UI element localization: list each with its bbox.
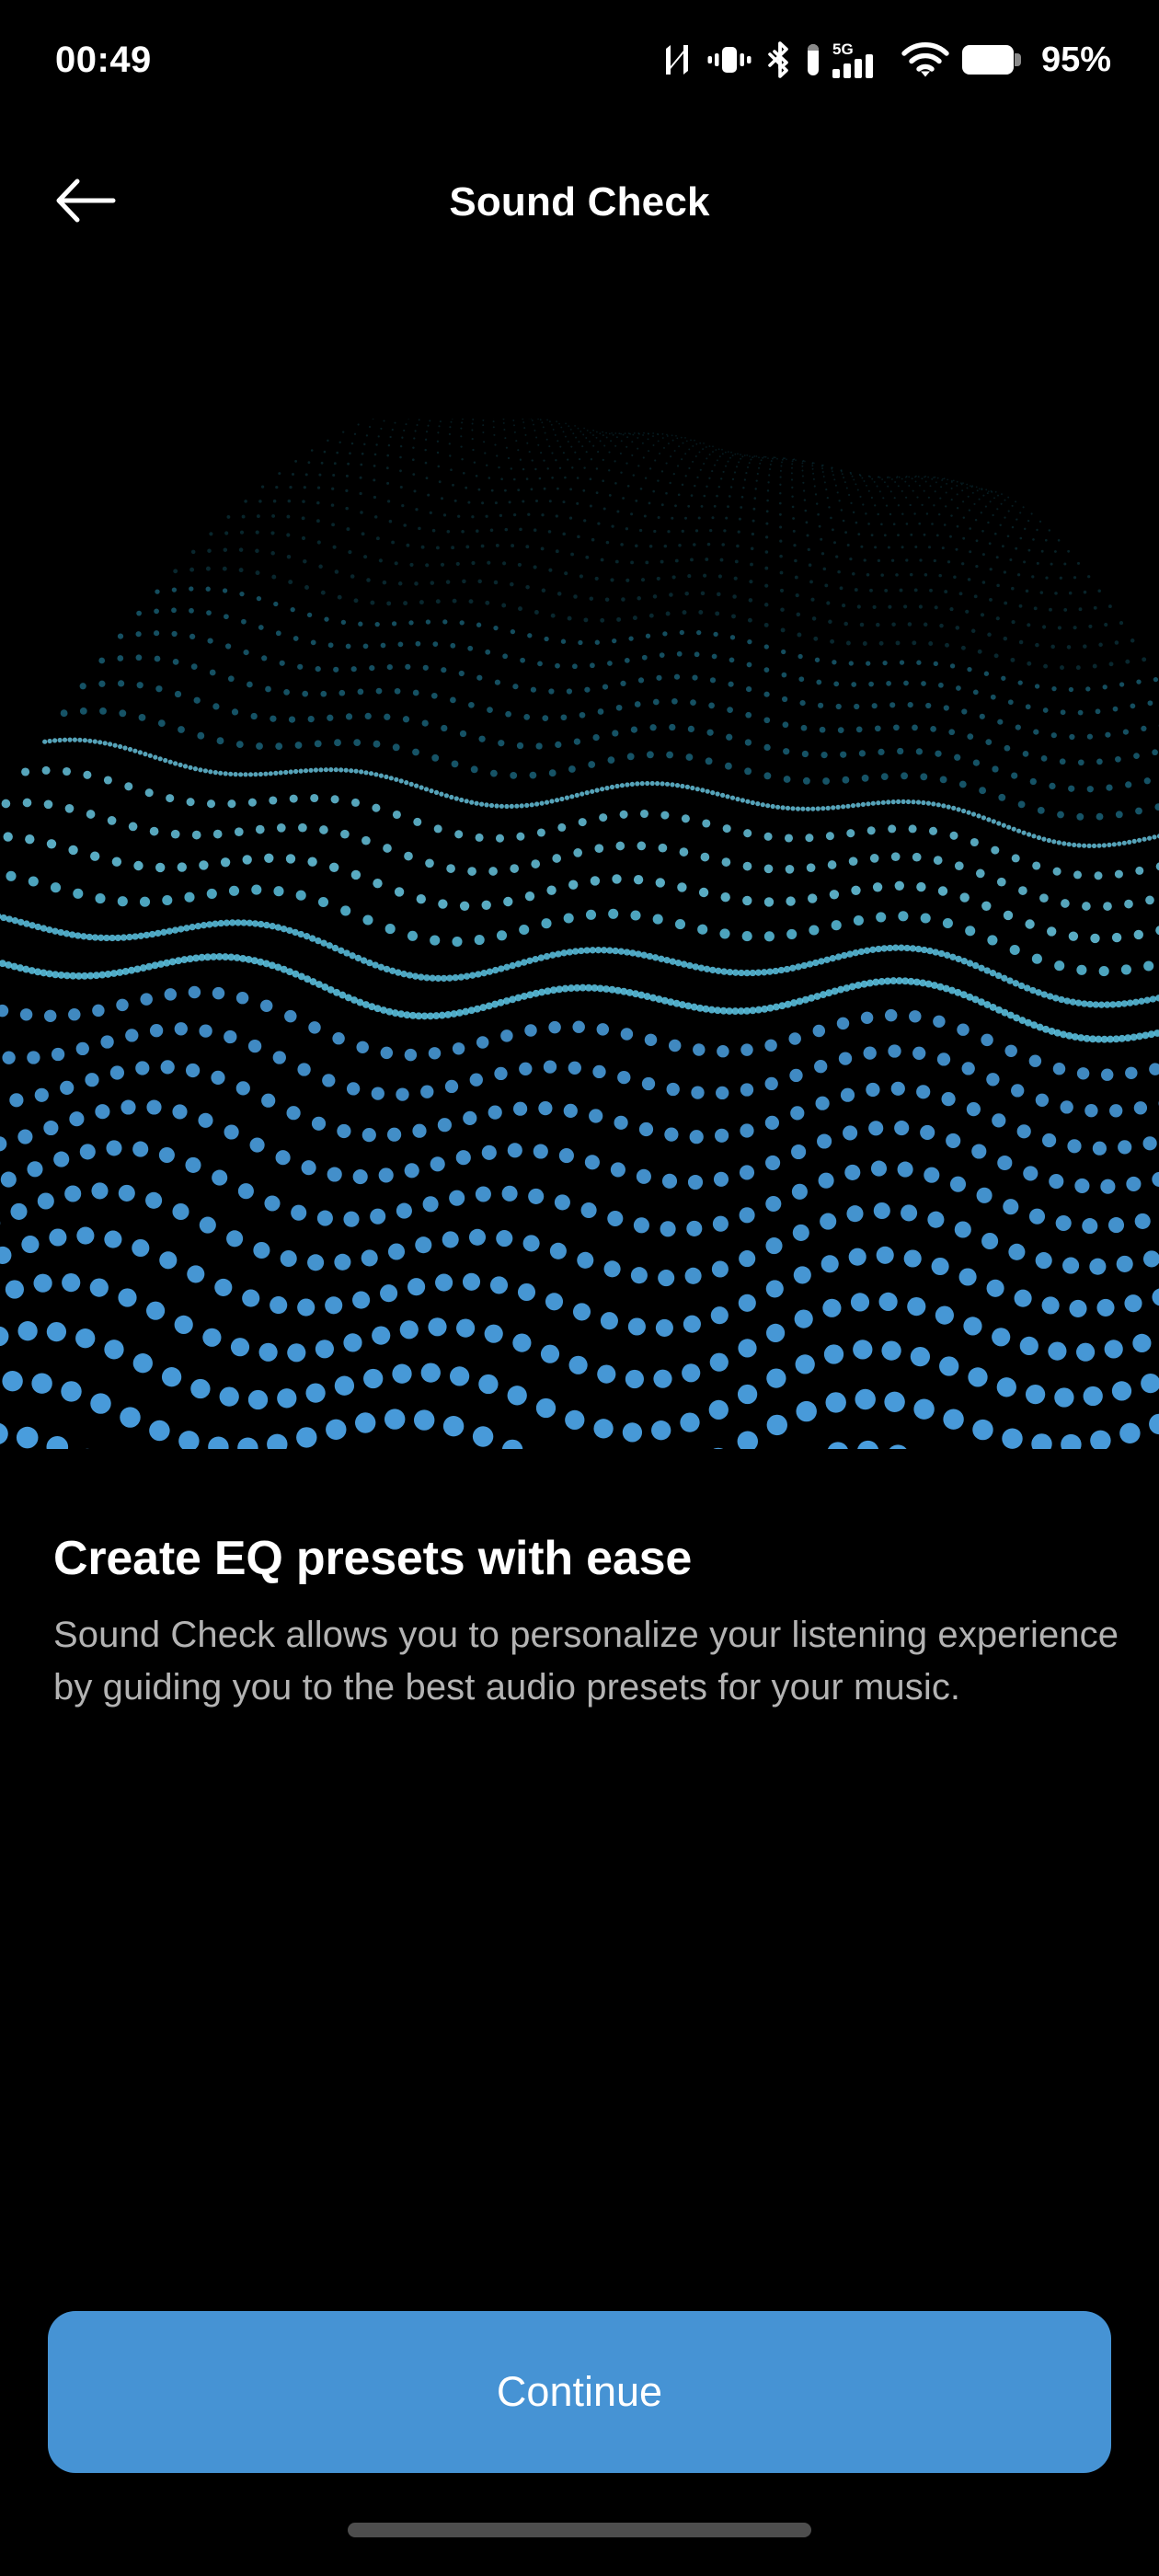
bluetooth-icon xyxy=(766,40,794,79)
svg-text:5G: 5G xyxy=(832,40,854,58)
audio-waveform-dot-field-visualization xyxy=(0,419,1159,1449)
bluetooth-device-battery-icon xyxy=(806,40,820,79)
status-bar-clock: 00:49 xyxy=(55,40,152,81)
body-text: Sound Check allows you to personalize yo… xyxy=(53,1609,1120,1714)
nfc-icon xyxy=(661,41,693,78)
status-bar-icons: 5G xyxy=(661,39,1111,81)
wifi-icon xyxy=(901,41,949,78)
continue-button[interactable]: Continue xyxy=(48,2311,1111,2473)
headline: Create EQ presets with ease xyxy=(53,1532,1120,1585)
cellular-5g-signal-icon: 5G xyxy=(832,39,889,81)
app-header: Sound Check xyxy=(0,138,1159,267)
home-gesture-indicator[interactable] xyxy=(348,2523,811,2537)
battery-percentage: 95% xyxy=(1041,40,1111,80)
vibrate-icon xyxy=(705,41,754,78)
phone-screen: 00:49 xyxy=(0,0,1159,2576)
battery-icon xyxy=(961,42,1022,77)
status-bar: 00:49 xyxy=(0,0,1159,120)
intro-copy: Create EQ presets with ease Sound Check … xyxy=(53,1532,1120,1714)
page-title: Sound Check xyxy=(0,138,1159,267)
